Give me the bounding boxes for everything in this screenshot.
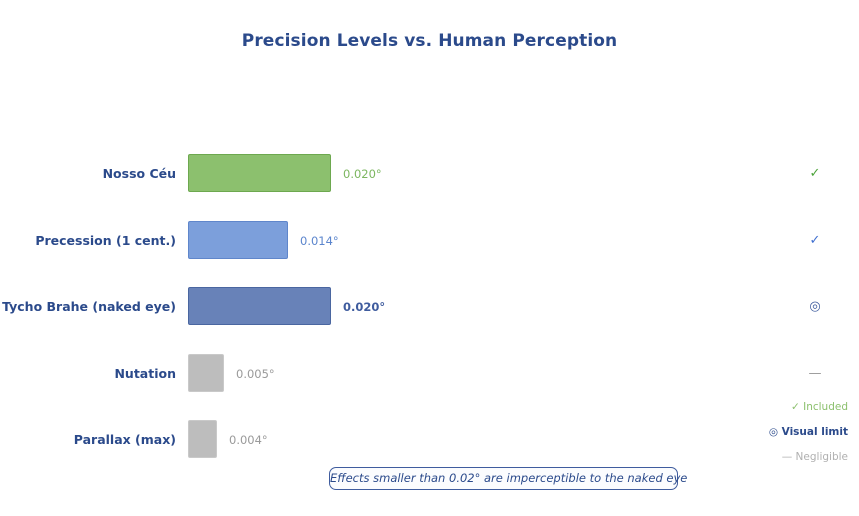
bar-row: Nutation0.005°—: [0, 353, 859, 395]
bar-row: Tycho Brahe (naked eye)0.020°◎: [0, 286, 859, 328]
bar[interactable]: [188, 287, 331, 325]
category-label: Nutation: [114, 353, 176, 395]
category-label: Nosso Céu: [103, 153, 176, 195]
check-icon: ✓: [795, 220, 835, 262]
category-label: Parallax (max): [74, 419, 176, 461]
legend-item: ◎ Visual limit: [648, 420, 848, 445]
bar[interactable]: [188, 154, 331, 192]
bar-row: Nosso Céu0.020°✓: [0, 153, 859, 195]
dash-icon: —: [795, 353, 835, 395]
chart-legend: ✓ Included◎ Visual limit— Negligible: [648, 395, 848, 470]
bar-value-label: 0.004°: [229, 419, 268, 461]
legend-item: — Negligible: [648, 445, 848, 470]
category-label: Tycho Brahe (naked eye): [2, 286, 176, 328]
bar[interactable]: [188, 221, 288, 259]
annotation-note: Effects smaller than 0.02° are impercept…: [329, 467, 678, 490]
category-label: Precession (1 cent.): [35, 220, 176, 262]
bar-row: Precession (1 cent.)0.014°✓: [0, 220, 859, 262]
bar-value-label: 0.020°: [343, 286, 385, 328]
check-icon: ✓: [795, 153, 835, 195]
bar-value-label: 0.014°: [300, 220, 339, 262]
bar-value-label: 0.020°: [343, 153, 382, 195]
chart-container: Precision Levels vs. Human Perception No…: [0, 0, 859, 516]
bullseye-icon: ◎: [795, 286, 835, 328]
bar-value-label: 0.005°: [236, 353, 275, 395]
bar[interactable]: [188, 354, 224, 392]
legend-item: ✓ Included: [648, 395, 848, 420]
bar[interactable]: [188, 420, 217, 458]
